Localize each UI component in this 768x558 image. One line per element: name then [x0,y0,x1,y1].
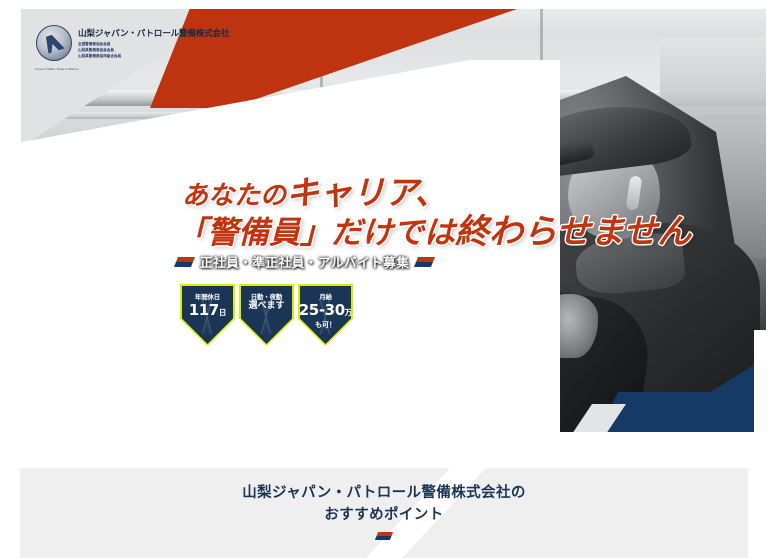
shield-badge-icon: 月給 25-30万 も可！ [298,284,353,346]
page-root: Comes it Stable / Relax & Reliance 山梨ジャパ… [0,0,768,558]
headline-line-2-big: 終わらせません [455,212,691,252]
headline-line-1-big: キャリア、 [286,173,448,212]
section-heading: 山梨ジャパン・パトロール警備株式会社の おすすめポイント [0,482,768,527]
parallelogram-mark-icon [174,257,195,267]
headline-line-1-small: あなたの [182,181,286,211]
badge-number: 117 [189,301,219,319]
section-heading-line-2: おすすめポイント [0,504,768,526]
shield-body: 日勤・夜勤 選べます [241,286,292,344]
shield-badge-icon: 日勤・夜勤 選べます [239,284,294,346]
parallelogram-mark-icon [414,257,435,267]
affiliation-item: 山梨県警備業協同組合会員 [78,53,229,59]
headline-line-2: 「警備員」だけでは終わらせません [176,214,616,250]
badge-top-label: 月給 [319,294,332,301]
decor-white-left-strip [0,0,21,470]
hero-badge-group: 年間休日 117日 日勤・夜勤 選べます 月給 25-30万 も可！ [180,284,353,346]
badge-top-label: 年間休日 [195,294,220,301]
decor-white-top-strip [0,0,768,9]
hero-headline: あなたのキャリア、 「警備員」だけでは終わらせません [176,176,616,250]
emblem-motto: Comes it Stable / Relax & Reliance [35,68,75,72]
badge-main-value: 25-30万 [300,302,351,319]
badge-bottom-label: も可！ [315,320,336,330]
logo-company-name: 山梨ジャパン・パトロール警備株式会社 [78,27,229,39]
badge-unit: 万 [345,308,351,317]
badge-main-value: 117日 [189,302,227,319]
badge-unit: 日 [219,308,227,317]
logo-text-block: 山梨ジャパン・パトロール警備株式会社 全国警備業協会会員 山梨県警備業協会会員 … [78,27,229,59]
shield-badge-icon: 年間休日 117日 [180,284,235,346]
shield-body: 年間休日 117日 [182,286,233,344]
site-logo[interactable]: Comes it Stable / Relax & Reliance 山梨ジャパ… [36,25,229,61]
headline-line-2-small: 「警備員」だけでは [176,215,455,251]
hero-section: Comes it Stable / Relax & Reliance 山梨ジャパ… [0,0,768,470]
section-heading-line-1: 山梨ジャパン・パトロール警備株式会社の [0,482,768,504]
points-section: 山梨ジャパン・パトロール警備株式会社の おすすめポイント [0,440,768,558]
recruit-label: 正社員・準正社員・アルバイト募集 [200,252,409,271]
badge-main-value: 選べます [248,302,284,311]
recruit-strip: 正社員・準正社員・アルバイト募集 [176,252,433,271]
shield-body: 月給 25-30万 も可！ [300,286,351,344]
logo-affiliations: 全国警備業協会会員 山梨県警備業協会会員 山梨県警備業協同組合会員 [78,41,229,59]
eagle-emblem-icon: Comes it Stable / Relax & Reliance [36,25,72,61]
badge-number: 25-30 [300,301,345,319]
headline-line-1: あなたのキャリア、 [182,176,616,211]
